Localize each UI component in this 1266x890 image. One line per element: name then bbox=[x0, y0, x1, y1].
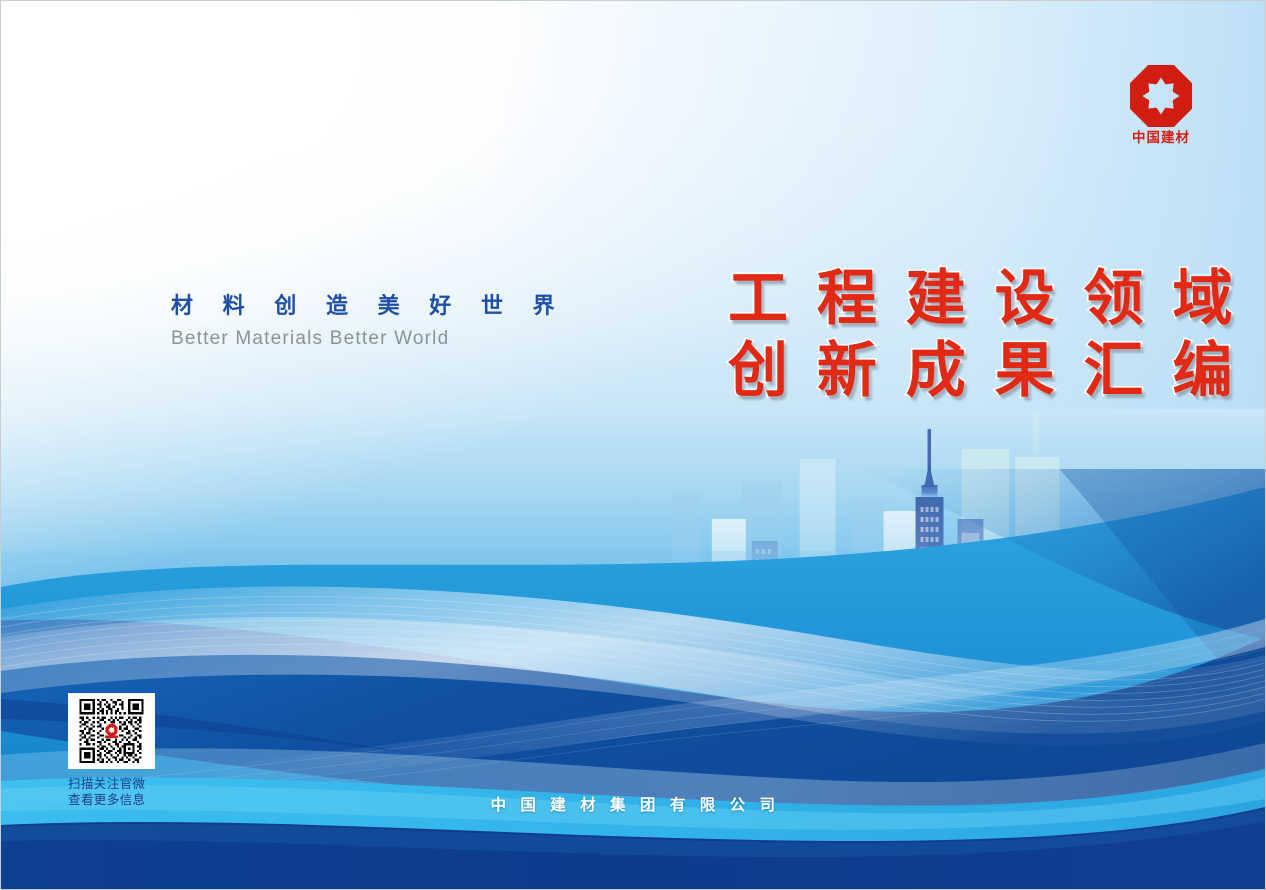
wave-graphic bbox=[1, 469, 1265, 889]
qr-caption-line-1: 扫描关注官微 bbox=[68, 776, 156, 792]
footer: 中 国 建 材 集 团 有 限 公 司 bbox=[1, 793, 1265, 815]
page-title: 工 程 建 设 领 域 创 新 成 果 汇 编 bbox=[728, 263, 1178, 407]
title-line-2: 创 新 成 果 汇 编 bbox=[728, 335, 1178, 407]
slogan-block: 材 料 创 造 美 好 世 界 Better Materials Better … bbox=[171, 293, 566, 350]
company-name: 中 国 建 材 集 团 有 限 公 司 bbox=[486, 793, 779, 815]
company-logo[interactable]: 中国建材 bbox=[1121, 65, 1201, 146]
slogan-english: Better Materials Better World bbox=[171, 328, 566, 351]
title-line-1: 工 程 建 设 领 域 bbox=[728, 263, 1178, 335]
octagon-star-logo-icon bbox=[1130, 65, 1192, 127]
qr-code-icon[interactable] bbox=[76, 699, 147, 763]
qr-card[interactable] bbox=[68, 693, 155, 769]
slogan-chinese: 材 料 创 造 美 好 世 界 bbox=[171, 293, 566, 321]
logo-wordmark: 中国建材 bbox=[1121, 132, 1201, 146]
qr-block[interactable]: 扫描关注官微 查看更多信息 bbox=[68, 693, 156, 808]
brochure-cover: 中国建材 材 料 创 造 美 好 世 界 Better Materials Be… bbox=[0, 0, 1266, 890]
